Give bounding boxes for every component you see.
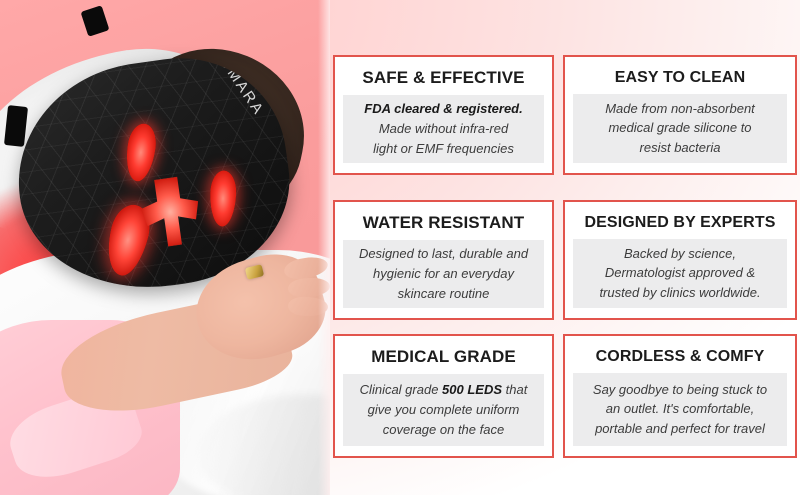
feature-line: portable and perfect for travel — [595, 419, 765, 439]
feature-line-emphasis: 500 LEDS — [442, 382, 502, 397]
feature-line: medical grade silicone to — [608, 118, 751, 138]
feature-line: Dermatologist approved & — [605, 263, 755, 283]
feature-line-emphasis: FDA cleared & registered. — [364, 101, 522, 116]
feature-line: Backed by science, — [624, 244, 736, 264]
feature-line: resist bacteria — [640, 138, 721, 158]
feature-line: Made from non-absorbent — [605, 99, 755, 119]
feature-card-body: Backed by science, Dermatologist approve… — [573, 239, 787, 308]
feature-line-suffix: that — [502, 382, 527, 397]
feature-line: Designed to last, durable and — [359, 244, 528, 264]
feature-card-title: SAFE & EFFECTIVE — [362, 69, 524, 88]
photo-edge-fade — [318, 0, 330, 495]
feature-line: light or EMF frequencies — [373, 139, 514, 159]
feature-line: FDA cleared & registered. — [364, 99, 522, 119]
feature-card-body: Made from non-absorbent medical grade si… — [573, 94, 787, 163]
feature-card-body: Designed to last, durable and hygienic f… — [343, 240, 544, 308]
feature-card-easy-to-clean: EASY TO CLEAN Made from non-absorbent me… — [563, 55, 797, 175]
feature-card-title: EASY TO CLEAN — [615, 69, 746, 87]
feature-line: coverage on the face — [383, 420, 504, 440]
feature-line: hygienic for an everyday — [373, 264, 514, 284]
feature-card-designed-by-experts: DESIGNED BY EXPERTS Backed by science, D… — [563, 200, 797, 320]
feature-line: an outlet. It's comfortable, — [606, 399, 754, 419]
feature-line: give you complete uniform — [368, 400, 520, 420]
feature-card-title: WATER RESISTANT — [363, 214, 524, 233]
feature-line: Clinical grade 500 LEDS that — [360, 380, 528, 400]
feature-line: trusted by clinics worldwide. — [599, 283, 760, 303]
feature-line: Say goodbye to being stuck to — [593, 380, 767, 400]
feature-card-body: Clinical grade 500 LEDS that give you co… — [343, 374, 544, 446]
feature-card-water-resistant: WATER RESISTANT Designed to last, durabl… — [333, 200, 554, 320]
feature-card-title: CORDLESS & COMFY — [596, 348, 765, 366]
feature-card-safe-and-effective: SAFE & EFFECTIVE FDA cleared & registere… — [333, 55, 554, 175]
feature-line: skincare routine — [398, 284, 490, 304]
feature-card-grid: SAFE & EFFECTIVE FDA cleared & registere… — [330, 0, 800, 495]
feature-card-medical-grade: MEDICAL GRADE Clinical grade 500 LEDS th… — [333, 334, 554, 458]
feature-line-prefix: Clinical grade — [360, 382, 442, 397]
product-feature-infographic: LUMARA SAFE & EFFECTIVE FDA cleared & re… — [0, 0, 800, 495]
feature-card-body: Say goodbye to being stuck to an outlet.… — [573, 373, 787, 446]
feature-card-title: MEDICAL GRADE — [371, 348, 516, 367]
feature-line: Made without infra-red — [379, 119, 508, 139]
product-photo: LUMARA — [0, 0, 330, 495]
feature-card-body: FDA cleared & registered. Made without i… — [343, 95, 544, 163]
feature-card-title: DESIGNED BY EXPERTS — [585, 214, 776, 232]
feature-card-cordless-and-comfy: CORDLESS & COMFY Say goodbye to being st… — [563, 334, 797, 458]
mask-strap-side — [4, 105, 28, 147]
